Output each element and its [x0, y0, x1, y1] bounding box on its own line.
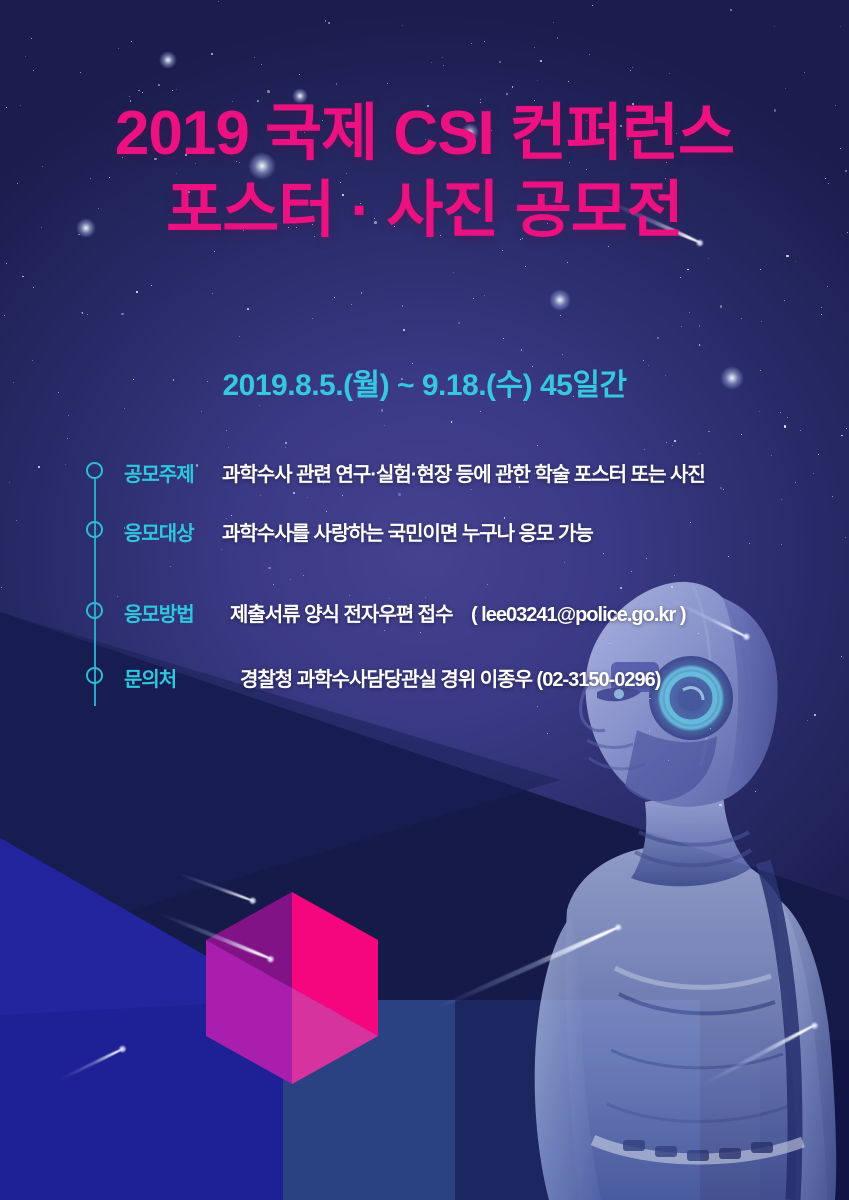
bullet-circle-icon: [86, 462, 103, 479]
title-line-2: 포스터 · 사진 공모전: [0, 181, 849, 242]
bullet-circle-icon: [86, 667, 103, 684]
info-row: 공모주제 과학수사 관련 연구·실험·현장 등에 관한 학술 포스터 또는 사진: [86, 458, 705, 487]
info-row: 응모방법 제출서류 양식 전자우편 접수 ( lee03241@police.g…: [86, 598, 705, 627]
date-range: 2019.8.5.(월) ~ 9.18.(수) 45일간: [0, 360, 849, 404]
info-value: 제출서류 양식 전자우편 접수: [230, 604, 452, 626]
info-row: 응모대상 과학수사를 사랑하는 국민이면 누구나 응모 가능: [86, 517, 705, 546]
info-value-sub: ( lee03241@police.go.kr ): [471, 604, 686, 626]
info-label: 응모대상: [124, 517, 212, 546]
info-label: 문의처: [124, 663, 212, 692]
bullet-circle-icon: [86, 521, 103, 538]
poster-canvas: 2019 국제 CSI 컨퍼런스 포스터 · 사진 공모전 2019.8.5.(…: [0, 0, 849, 1200]
bullet-circle-icon: [86, 602, 103, 619]
info-label: 응모방법: [124, 598, 212, 627]
info-value: 과학수사 관련 연구·실험·현장 등에 관한 학술 포스터 또는 사진: [222, 458, 705, 487]
poster-headline: 2019 국제 CSI 컨퍼런스 포스터 · 사진 공모전: [0, 104, 849, 242]
info-label: 공모주제: [124, 458, 212, 487]
info-value: 과학수사를 사랑하는 국민이면 누구나 응모 가능: [222, 517, 593, 546]
info-value: 경찰청 과학수사담당관실: [240, 669, 436, 691]
isometric-cube: [192, 888, 392, 1088]
info-value-sub: 경위 이종우 (02-3150-0296): [440, 669, 660, 691]
info-row: 문의처 경찰청 과학수사담당관실 경위 이종우 (02-3150-0296): [86, 663, 705, 692]
info-list: 공모주제 과학수사 관련 연구·실험·현장 등에 관한 학술 포스터 또는 사진…: [86, 458, 705, 692]
title-line-1: 2019 국제 CSI 컨퍼런스: [0, 104, 849, 165]
